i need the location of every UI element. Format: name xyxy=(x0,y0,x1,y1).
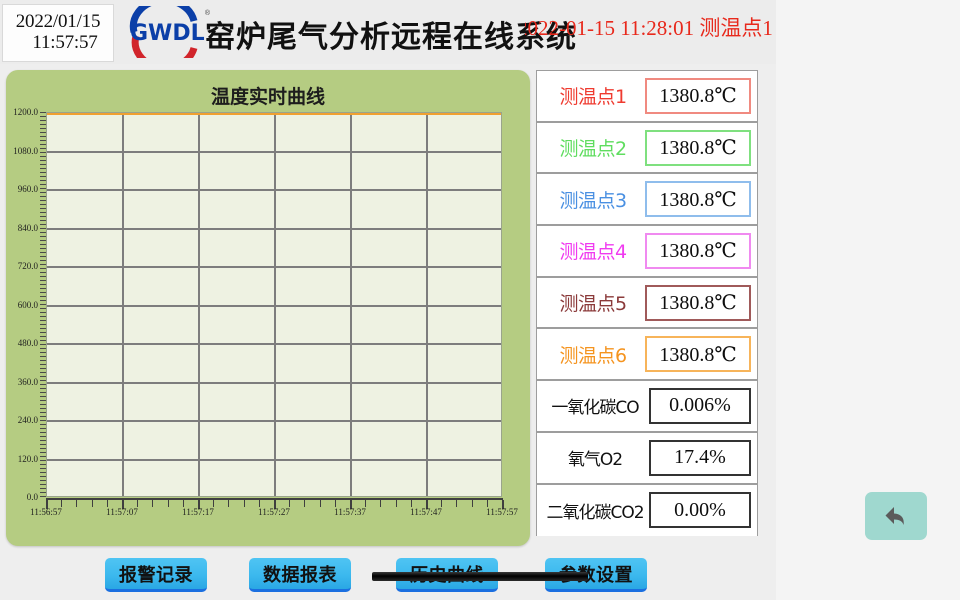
readout-label: 二氧化碳CO2 xyxy=(543,498,647,523)
readout-value: 1380.8℃ xyxy=(645,285,751,321)
readout-row: 氧气O217.4% xyxy=(537,433,757,485)
y-axis-tick-label: 720.0 xyxy=(18,261,38,271)
current-time: 11:57:57 xyxy=(18,32,97,54)
y-axis-tick-label: 840.0 xyxy=(18,223,38,233)
readout-row: 测温点41380.8℃ xyxy=(537,226,757,278)
x-axis-tick xyxy=(472,500,473,507)
temperature-chart-panel: 温度实时曲线 0.0120.0240.0360.0480.0600.0720.0… xyxy=(6,70,530,546)
bottom-button-报警记录[interactable]: 报警记录 xyxy=(105,558,207,592)
current-date: 2022/01/15 xyxy=(16,12,101,32)
readout-label: 氧气O2 xyxy=(543,445,647,470)
y-axis-tick-label: 480.0 xyxy=(18,338,38,348)
x-axis xyxy=(46,498,503,506)
gridline-vertical xyxy=(198,113,200,496)
x-axis-tick-label: 11:57:07 xyxy=(106,507,138,517)
drag-handle-bar[interactable] xyxy=(372,572,588,581)
gridline-vertical xyxy=(122,113,124,496)
readout-label: 测温点1 xyxy=(543,82,643,109)
sensor-readout-panel: 测温点11380.8℃测温点21380.8℃测温点31380.8℃测温点4138… xyxy=(536,70,758,536)
readout-row: 测温点11380.8℃ xyxy=(537,71,757,123)
x-axis-tick-label: 11:57:17 xyxy=(182,507,214,517)
readout-label: 一氧化碳CO xyxy=(543,393,647,418)
x-axis-tick-label: 11:57:47 xyxy=(410,507,442,517)
x-axis-tick xyxy=(244,500,245,507)
plot-wrapper xyxy=(46,112,502,497)
x-axis-tick xyxy=(411,500,412,507)
x-axis-tick xyxy=(152,500,153,507)
back-arrow-icon xyxy=(881,502,911,530)
x-axis-tick xyxy=(259,500,260,507)
readout-label: 测温点2 xyxy=(543,134,643,161)
plot-area[interactable] xyxy=(46,112,502,497)
readout-row: 二氧化碳CO20.00% xyxy=(537,485,757,537)
chart-title: 温度实时曲线 xyxy=(6,82,530,109)
readout-value: 0.006% xyxy=(649,388,751,424)
page-title: 窑炉尾气分析远程在线系统 xyxy=(205,12,577,56)
readout-value: 1380.8℃ xyxy=(645,233,751,269)
readout-value: 1380.8℃ xyxy=(645,336,751,372)
alarm-ticker: 2022-01-15 11:28:01 测温点1 xyxy=(525,12,775,46)
readout-label: 测温点6 xyxy=(543,341,643,368)
x-axis-tick xyxy=(183,500,184,507)
x-axis-tick xyxy=(228,500,229,507)
y-axis-tick-label: 960.0 xyxy=(18,184,38,194)
readout-row: 测温点51380.8℃ xyxy=(537,278,757,330)
y-axis-labels: 0.0120.0240.0360.0480.0600.0720.0840.096… xyxy=(6,106,40,503)
back-button[interactable] xyxy=(865,492,927,540)
y-axis-tick-label: 120.0 xyxy=(18,454,38,464)
x-axis-tick xyxy=(365,500,366,507)
gwdl-logo: GWDL ® xyxy=(120,6,212,58)
x-axis-tick xyxy=(76,500,77,507)
x-axis-tick xyxy=(213,500,214,507)
readout-value: 1380.8℃ xyxy=(645,78,751,114)
x-axis-tick xyxy=(487,500,488,507)
x-axis-tick xyxy=(168,500,169,507)
x-axis-tick xyxy=(335,500,336,507)
x-axis-tick-label: 11:57:57 xyxy=(486,507,518,517)
y-axis-tick-label: 1200.0 xyxy=(13,107,38,117)
x-axis-tick xyxy=(137,500,138,507)
x-axis-tick xyxy=(289,500,290,507)
readout-label: 测温点5 xyxy=(543,289,643,316)
y-axis-tick-label: 0.0 xyxy=(27,492,38,502)
readout-row: 测温点21380.8℃ xyxy=(537,123,757,175)
x-axis-tick xyxy=(92,500,93,507)
alarm-ticker-text: 2022-01-15 11:28:01 测温点1 xyxy=(525,12,775,42)
series-line-clipped xyxy=(47,113,501,115)
readout-row: 测温点61380.8℃ xyxy=(537,329,757,381)
readout-row: 一氧化碳CO0.006% xyxy=(537,381,757,433)
gridline-vertical xyxy=(274,113,276,496)
x-axis-tick xyxy=(61,500,62,507)
x-axis-labels: 11:56:5711:57:0711:57:1711:57:2711:57:37… xyxy=(6,507,530,523)
bottom-button-数据报表[interactable]: 数据报表 xyxy=(249,558,351,592)
gridline-vertical xyxy=(426,113,428,496)
readout-value: 0.00% xyxy=(649,492,751,528)
y-axis-tick-label: 240.0 xyxy=(18,415,38,425)
y-axis-tick-label: 1080.0 xyxy=(13,146,38,156)
readout-row: 测温点31380.8℃ xyxy=(537,174,757,226)
readout-value: 1380.8℃ xyxy=(645,130,751,166)
datetime-display: 2022/01/15 11:57:57 xyxy=(2,4,114,62)
app-header: 2022/01/15 11:57:57 GWDL ® 窑炉尾气分析远程在线系统 … xyxy=(0,0,776,64)
x-axis-tick xyxy=(456,500,457,507)
readout-value: 17.4% xyxy=(649,440,751,476)
readout-label: 测温点3 xyxy=(543,186,643,213)
y-axis-tick-label: 600.0 xyxy=(18,300,38,310)
app-root: 2022/01/15 11:57:57 GWDL ® 窑炉尾气分析远程在线系统 … xyxy=(0,0,776,600)
x-axis-tick xyxy=(441,500,442,507)
x-axis-tick xyxy=(304,500,305,507)
x-axis-tick xyxy=(396,500,397,507)
svg-text:GWDL: GWDL xyxy=(130,21,205,46)
x-axis-tick xyxy=(320,500,321,507)
readout-value: 1380.8℃ xyxy=(645,181,751,217)
x-axis-tick-label: 11:56:57 xyxy=(30,507,62,517)
gridline-vertical xyxy=(350,113,352,496)
y-axis-tick-label: 360.0 xyxy=(18,377,38,387)
x-axis-tick-label: 11:57:37 xyxy=(334,507,366,517)
readout-label: 测温点4 xyxy=(543,237,643,264)
x-axis-tick xyxy=(107,500,108,507)
x-axis-tick-label: 11:57:27 xyxy=(258,507,290,517)
x-axis-tick xyxy=(380,500,381,507)
